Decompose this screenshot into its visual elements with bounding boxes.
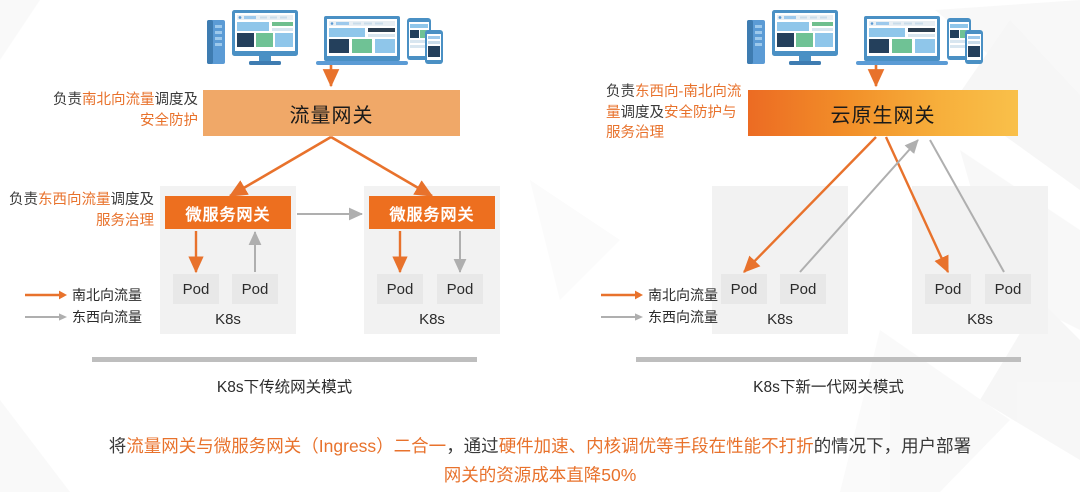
footer-seg: 流量网关与微服务网关（Ingress）二合一 xyxy=(126,436,446,456)
left-pod-1-1[interactable]: Pod xyxy=(173,274,219,304)
north-south-arrow-icon xyxy=(24,289,68,301)
left-k8s-label-2: K8s xyxy=(364,311,500,328)
pod-label: Pod xyxy=(242,281,269,298)
legend-label: 南北向流量 xyxy=(648,285,718,305)
ann-seg: 安全防护 xyxy=(140,113,198,129)
left-micro-gateway-1[interactable]: 微服务网关 xyxy=(165,196,291,229)
cloud-native-gateway-box[interactable]: 云原生网关 xyxy=(748,90,1018,136)
traffic-gateway-label: 流量网关 xyxy=(290,99,374,128)
left-micro-gateway-2[interactable]: 微服务网关 xyxy=(369,196,495,229)
legend-label: 东西向流量 xyxy=(648,307,718,327)
tablet-phone-icon xyxy=(407,18,443,64)
cloud-native-gateway-label: 云原生网关 xyxy=(831,99,936,128)
traffic-gateway-box[interactable]: 流量网关 xyxy=(203,90,460,136)
pod-label: Pod xyxy=(731,281,758,298)
right-k8s-label-1: K8s xyxy=(712,311,848,328)
legend-item-east-west: 东西向流量 xyxy=(600,306,718,328)
ann-seg: 调 xyxy=(155,92,170,108)
legend-item-north-south: 南北向流量 xyxy=(600,284,718,306)
left-annotation-east-west: 负责东西向流量调度及服务治理 xyxy=(6,190,154,231)
ann-seg: 度及 xyxy=(125,192,154,208)
laptop-icon xyxy=(316,16,408,65)
micro-gateway-label: 微服务网关 xyxy=(185,201,270,225)
footer-seg: 的情况下，用户部署 xyxy=(814,436,972,456)
right-k8s-label-2: K8s xyxy=(912,311,1048,328)
ann-seg: 东西向流量 xyxy=(38,192,111,208)
legend-label: 南北向流量 xyxy=(72,285,142,305)
footer-seg: 网关的资源成本直降50% xyxy=(444,465,637,485)
ann-seg: 南北向流量 xyxy=(82,92,155,108)
server-tower-icon xyxy=(747,20,765,64)
ann-seg: 服务治理 xyxy=(96,213,154,229)
right-device-group xyxy=(736,4,986,68)
footer-seg: 硬件加速、内核调优等手段在性能不打折 xyxy=(499,436,814,456)
legend-label: 东西向流量 xyxy=(72,307,142,327)
ann-seg: 调度及 xyxy=(621,105,665,121)
right-annotation: 负责东西向-南北向流量调度及安全防护与服务治理 xyxy=(606,82,742,144)
left-pod-1-2[interactable]: Pod xyxy=(232,274,278,304)
pod-label: Pod xyxy=(995,281,1022,298)
ann-seg: 负责 xyxy=(9,192,38,208)
ann-seg: 负责 xyxy=(606,84,635,100)
micro-gateway-label: 微服务网关 xyxy=(389,201,474,225)
right-legend: 南北向流量 东西向流量 xyxy=(600,284,718,328)
laptop-icon xyxy=(856,16,948,65)
ann-seg: 东西向-南北 xyxy=(635,84,712,100)
right-pod-1-2[interactable]: Pod xyxy=(780,274,826,304)
desktop-monitor-icon xyxy=(232,10,298,65)
north-south-arrow-icon xyxy=(600,289,644,301)
left-pod-2-1[interactable]: Pod xyxy=(377,274,423,304)
ann-seg: 度及 xyxy=(169,92,198,108)
right-pod-1-1[interactable]: Pod xyxy=(721,274,767,304)
ann-seg: 负责 xyxy=(53,92,82,108)
left-pod-2-2[interactable]: Pod xyxy=(437,274,483,304)
pod-label: Pod xyxy=(447,281,474,298)
right-pod-2-1[interactable]: Pod xyxy=(925,274,971,304)
right-panel-caption: K8s下新一代网关模式 xyxy=(636,375,1021,397)
footer-line-1: 将流量网关与微服务网关（Ingress）二合一，通过硬件加速、内核调优等手段在性… xyxy=(0,432,1080,461)
pod-label: Pod xyxy=(183,281,210,298)
slide-canvas: 流量网关 云原生网关 微服务网关 微服务网关 Pod Pod Pod Pod P… xyxy=(0,0,1080,492)
tablet-phone-icon xyxy=(947,18,983,64)
pod-label: Pod xyxy=(387,281,414,298)
pod-label: Pod xyxy=(790,281,817,298)
left-panel-caption: K8s下传统网关模式 xyxy=(92,375,477,397)
legend-item-east-west: 东西向流量 xyxy=(24,306,142,328)
right-pod-2-2[interactable]: Pod xyxy=(985,274,1031,304)
footer-seg: ，通过 xyxy=(446,436,499,456)
desktop-monitor-icon xyxy=(772,10,838,65)
left-legend: 南北向流量 东西向流量 xyxy=(24,284,142,328)
pod-label: Pod xyxy=(935,281,962,298)
left-device-group xyxy=(196,4,446,68)
legend-item-north-south: 南北向流量 xyxy=(24,284,142,306)
left-annotation-north-south: 负责南北向流量调度及安全防护 xyxy=(50,90,198,131)
right-separator xyxy=(636,357,1021,362)
east-west-arrow-icon xyxy=(24,311,68,323)
ann-seg: 安全 xyxy=(664,105,693,121)
server-tower-icon xyxy=(207,20,225,64)
footer-seg: 将 xyxy=(109,436,127,456)
left-k8s-label-1: K8s xyxy=(160,311,296,328)
left-separator xyxy=(92,357,477,362)
footer-line-2: 网关的资源成本直降50% xyxy=(0,461,1080,490)
ann-seg: 调 xyxy=(111,192,126,208)
east-west-arrow-icon xyxy=(600,311,644,323)
